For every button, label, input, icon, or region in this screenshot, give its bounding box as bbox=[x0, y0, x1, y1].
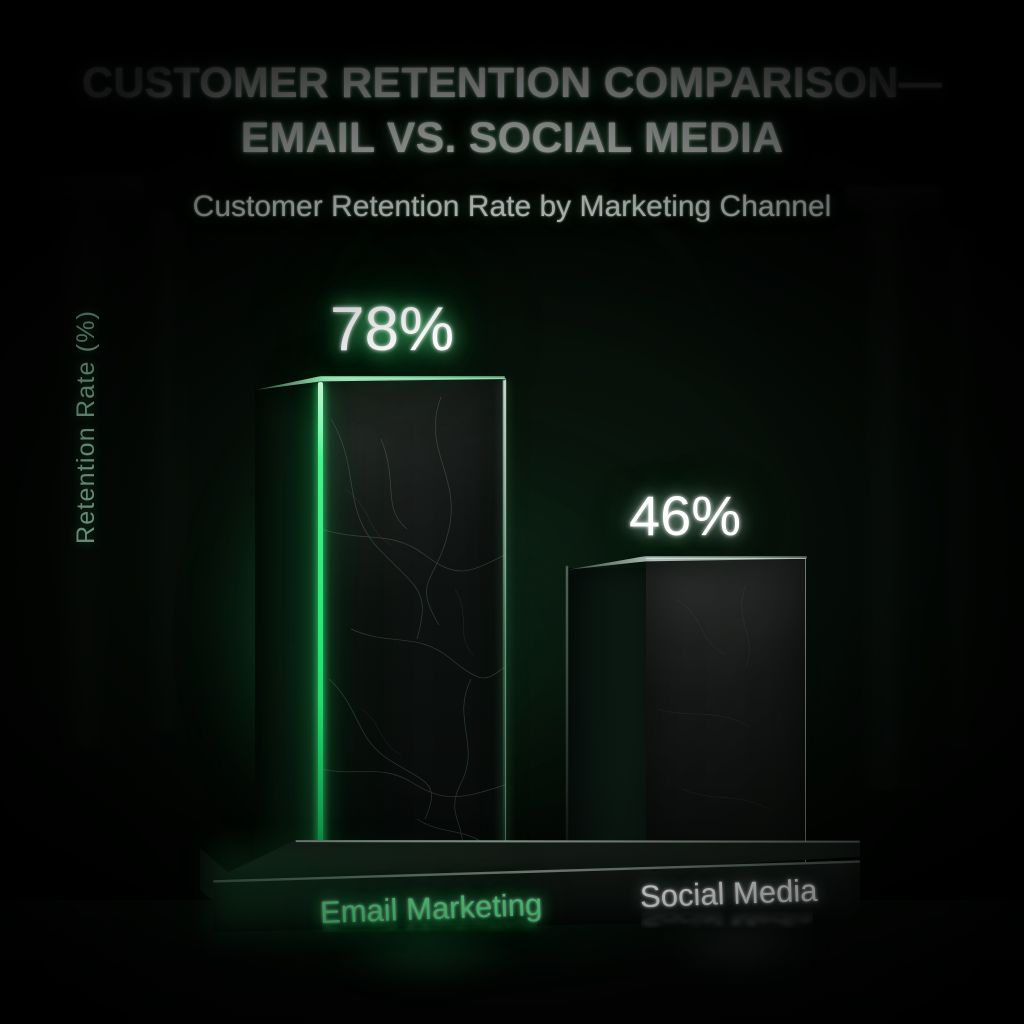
page-title: CUSTOMER RETENTION COMPARISON—EMAIL VS. … bbox=[0, 56, 1024, 165]
social-bar-left-rim bbox=[566, 566, 568, 864]
chart-canvas: CUSTOMER RETENTION COMPARISON—EMAIL VS. … bbox=[0, 0, 1024, 1024]
email-bar-front-face[interactable] bbox=[321, 378, 506, 865]
background-column-left-inner bbox=[148, 210, 192, 730]
y-axis-label: Retention Rate (%) bbox=[72, 284, 101, 544]
concrete-texture-icon bbox=[646, 559, 805, 865]
marble-texture-icon bbox=[321, 379, 505, 865]
email-bar-side-face bbox=[255, 388, 321, 864]
email-value-label: 78% bbox=[330, 294, 454, 365]
email-bar-neon-edge bbox=[318, 382, 323, 866]
social-value-label: 46% bbox=[629, 483, 741, 548]
background-column-right-outer bbox=[862, 200, 920, 790]
social-category-label: Social Media bbox=[639, 873, 818, 915]
page-subtitle: Customer Retention Rate by Marketing Cha… bbox=[0, 190, 1024, 224]
social-bar-front-face[interactable] bbox=[646, 558, 806, 865]
background-column-right-inner bbox=[944, 230, 984, 750]
social-bar-side-face bbox=[568, 568, 646, 864]
email-bar-right-rim bbox=[503, 380, 506, 862]
